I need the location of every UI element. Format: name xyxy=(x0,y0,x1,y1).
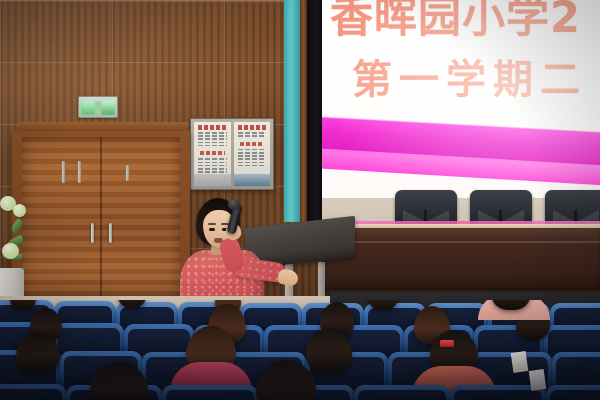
audience-head xyxy=(306,328,352,374)
seat[interactable] xyxy=(546,385,600,400)
poster-subheading xyxy=(200,151,225,155)
seat[interactable] xyxy=(0,384,66,400)
panel-indicator-right xyxy=(101,100,115,115)
notice-board xyxy=(190,118,274,190)
audience-seating xyxy=(0,300,600,400)
projection-screen: 香晖园小学2 第一学期二 xyxy=(322,0,600,215)
door-push-bar-right[interactable] xyxy=(78,161,81,183)
pillar-teal-strip xyxy=(284,0,300,222)
seat-booklet[interactable] xyxy=(529,369,547,391)
door-handle-left[interactable] xyxy=(91,223,94,243)
speaker-hand xyxy=(277,268,299,286)
seat-red-item xyxy=(440,340,454,347)
audience-head xyxy=(16,332,60,374)
door-handle-right[interactable] xyxy=(109,223,112,243)
poster-subheading xyxy=(240,142,265,146)
poster-heading xyxy=(238,125,267,130)
notice-poster-left xyxy=(194,122,231,186)
panel-indicator-left xyxy=(81,100,95,115)
auditorium-door[interactable] xyxy=(12,130,190,305)
seat[interactable] xyxy=(162,385,258,400)
wall-top-trim xyxy=(0,0,322,3)
door-panels xyxy=(22,137,180,303)
seat-booklet[interactable] xyxy=(511,351,529,373)
screen-glare xyxy=(322,0,600,215)
poster-heading xyxy=(198,125,227,130)
door-push-bar-upper[interactable] xyxy=(126,165,129,181)
screen-dark-edge xyxy=(307,0,323,222)
notice-poster-right xyxy=(234,122,271,186)
pillar-wood-trim xyxy=(300,0,307,222)
door-push-bar-left[interactable] xyxy=(62,161,65,183)
poster-footer-graphic xyxy=(194,174,231,186)
seat[interactable] xyxy=(354,385,450,400)
auditorium-photo: 香晖园小学2 第一学期二 xyxy=(0,0,600,400)
plant-bloom xyxy=(13,204,26,217)
door-header-trim xyxy=(18,122,188,131)
control-panel[interactable] xyxy=(78,96,118,118)
stage-table xyxy=(322,228,600,290)
plant-bloom xyxy=(2,243,19,259)
poster-footer-graphic xyxy=(234,174,271,186)
